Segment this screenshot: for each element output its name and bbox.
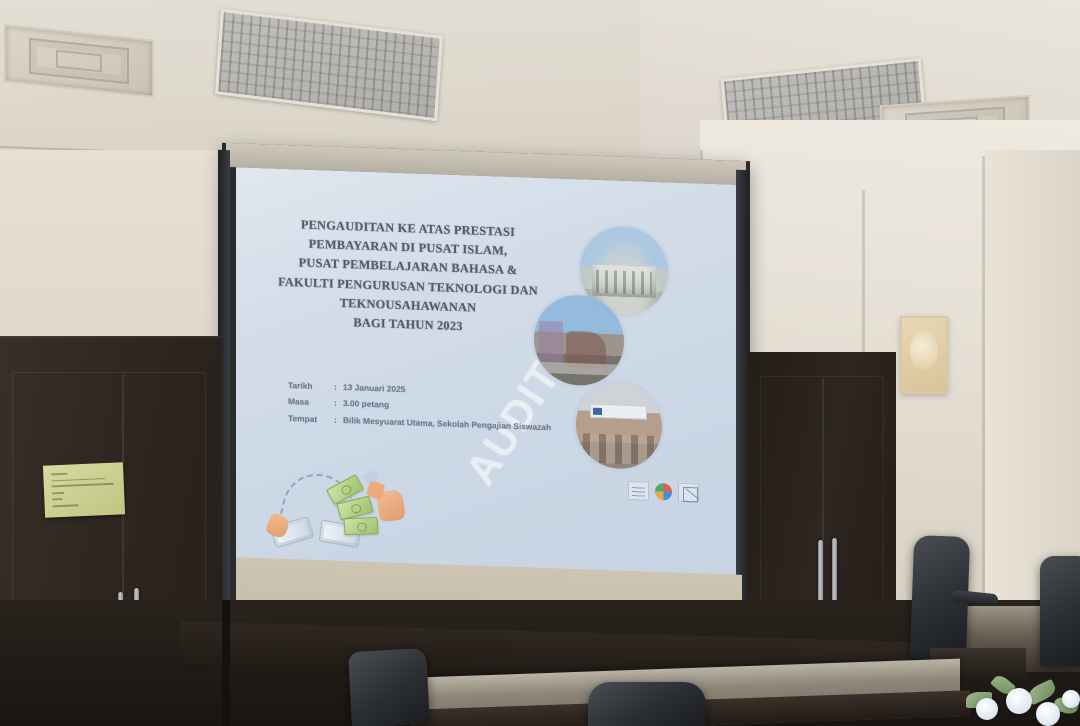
mobile-payment-illustration xyxy=(266,456,426,558)
executive-chair[interactable] xyxy=(1040,556,1080,666)
banknote-icon xyxy=(343,517,378,535)
framed-floral-artwork xyxy=(900,316,948,394)
detail-separator: : xyxy=(334,379,343,396)
taped-paper-notice xyxy=(43,462,125,517)
slide-title: PENGAUDITAN KE ATAS PRESTASI PEMBAYARAN … xyxy=(258,214,558,340)
certification-logo-icon xyxy=(678,483,699,503)
slide-event-details: Tarikh : 13 Januari 2025 Masa : 3.00 pet… xyxy=(288,377,551,435)
cabinet-gap xyxy=(222,600,230,726)
wall-right-column xyxy=(985,150,1080,610)
detail-value: 3.00 petang xyxy=(343,395,389,413)
presentation-slide: AUDIT PENGAUDITAN KE ATAS PRESTASI PEMBA… xyxy=(236,167,736,584)
detail-label: Tarikh xyxy=(288,377,334,395)
slide-footer-logos xyxy=(628,481,699,502)
campus-entrance-sign-photo xyxy=(576,381,662,470)
meeting-chair[interactable] xyxy=(588,682,706,726)
meeting-chair[interactable] xyxy=(348,648,430,726)
detail-label: Tempat xyxy=(288,410,334,428)
detail-separator: : xyxy=(334,395,343,412)
detail-separator: : xyxy=(334,411,343,428)
university-seal-icon xyxy=(655,483,672,501)
organization-logo-icon xyxy=(628,481,649,501)
projection-screen-surface: AUDIT PENGAUDITAN KE ATAS PRESTASI PEMBA… xyxy=(236,167,736,584)
wall-seam xyxy=(982,156,985,606)
meeting-room-scene: AUDIT PENGAUDITAN KE ATAS PRESTASI PEMBA… xyxy=(0,0,1080,726)
detail-label: Masa xyxy=(288,393,334,411)
flower-arrangement xyxy=(962,668,1080,726)
hand-icon xyxy=(376,489,406,522)
